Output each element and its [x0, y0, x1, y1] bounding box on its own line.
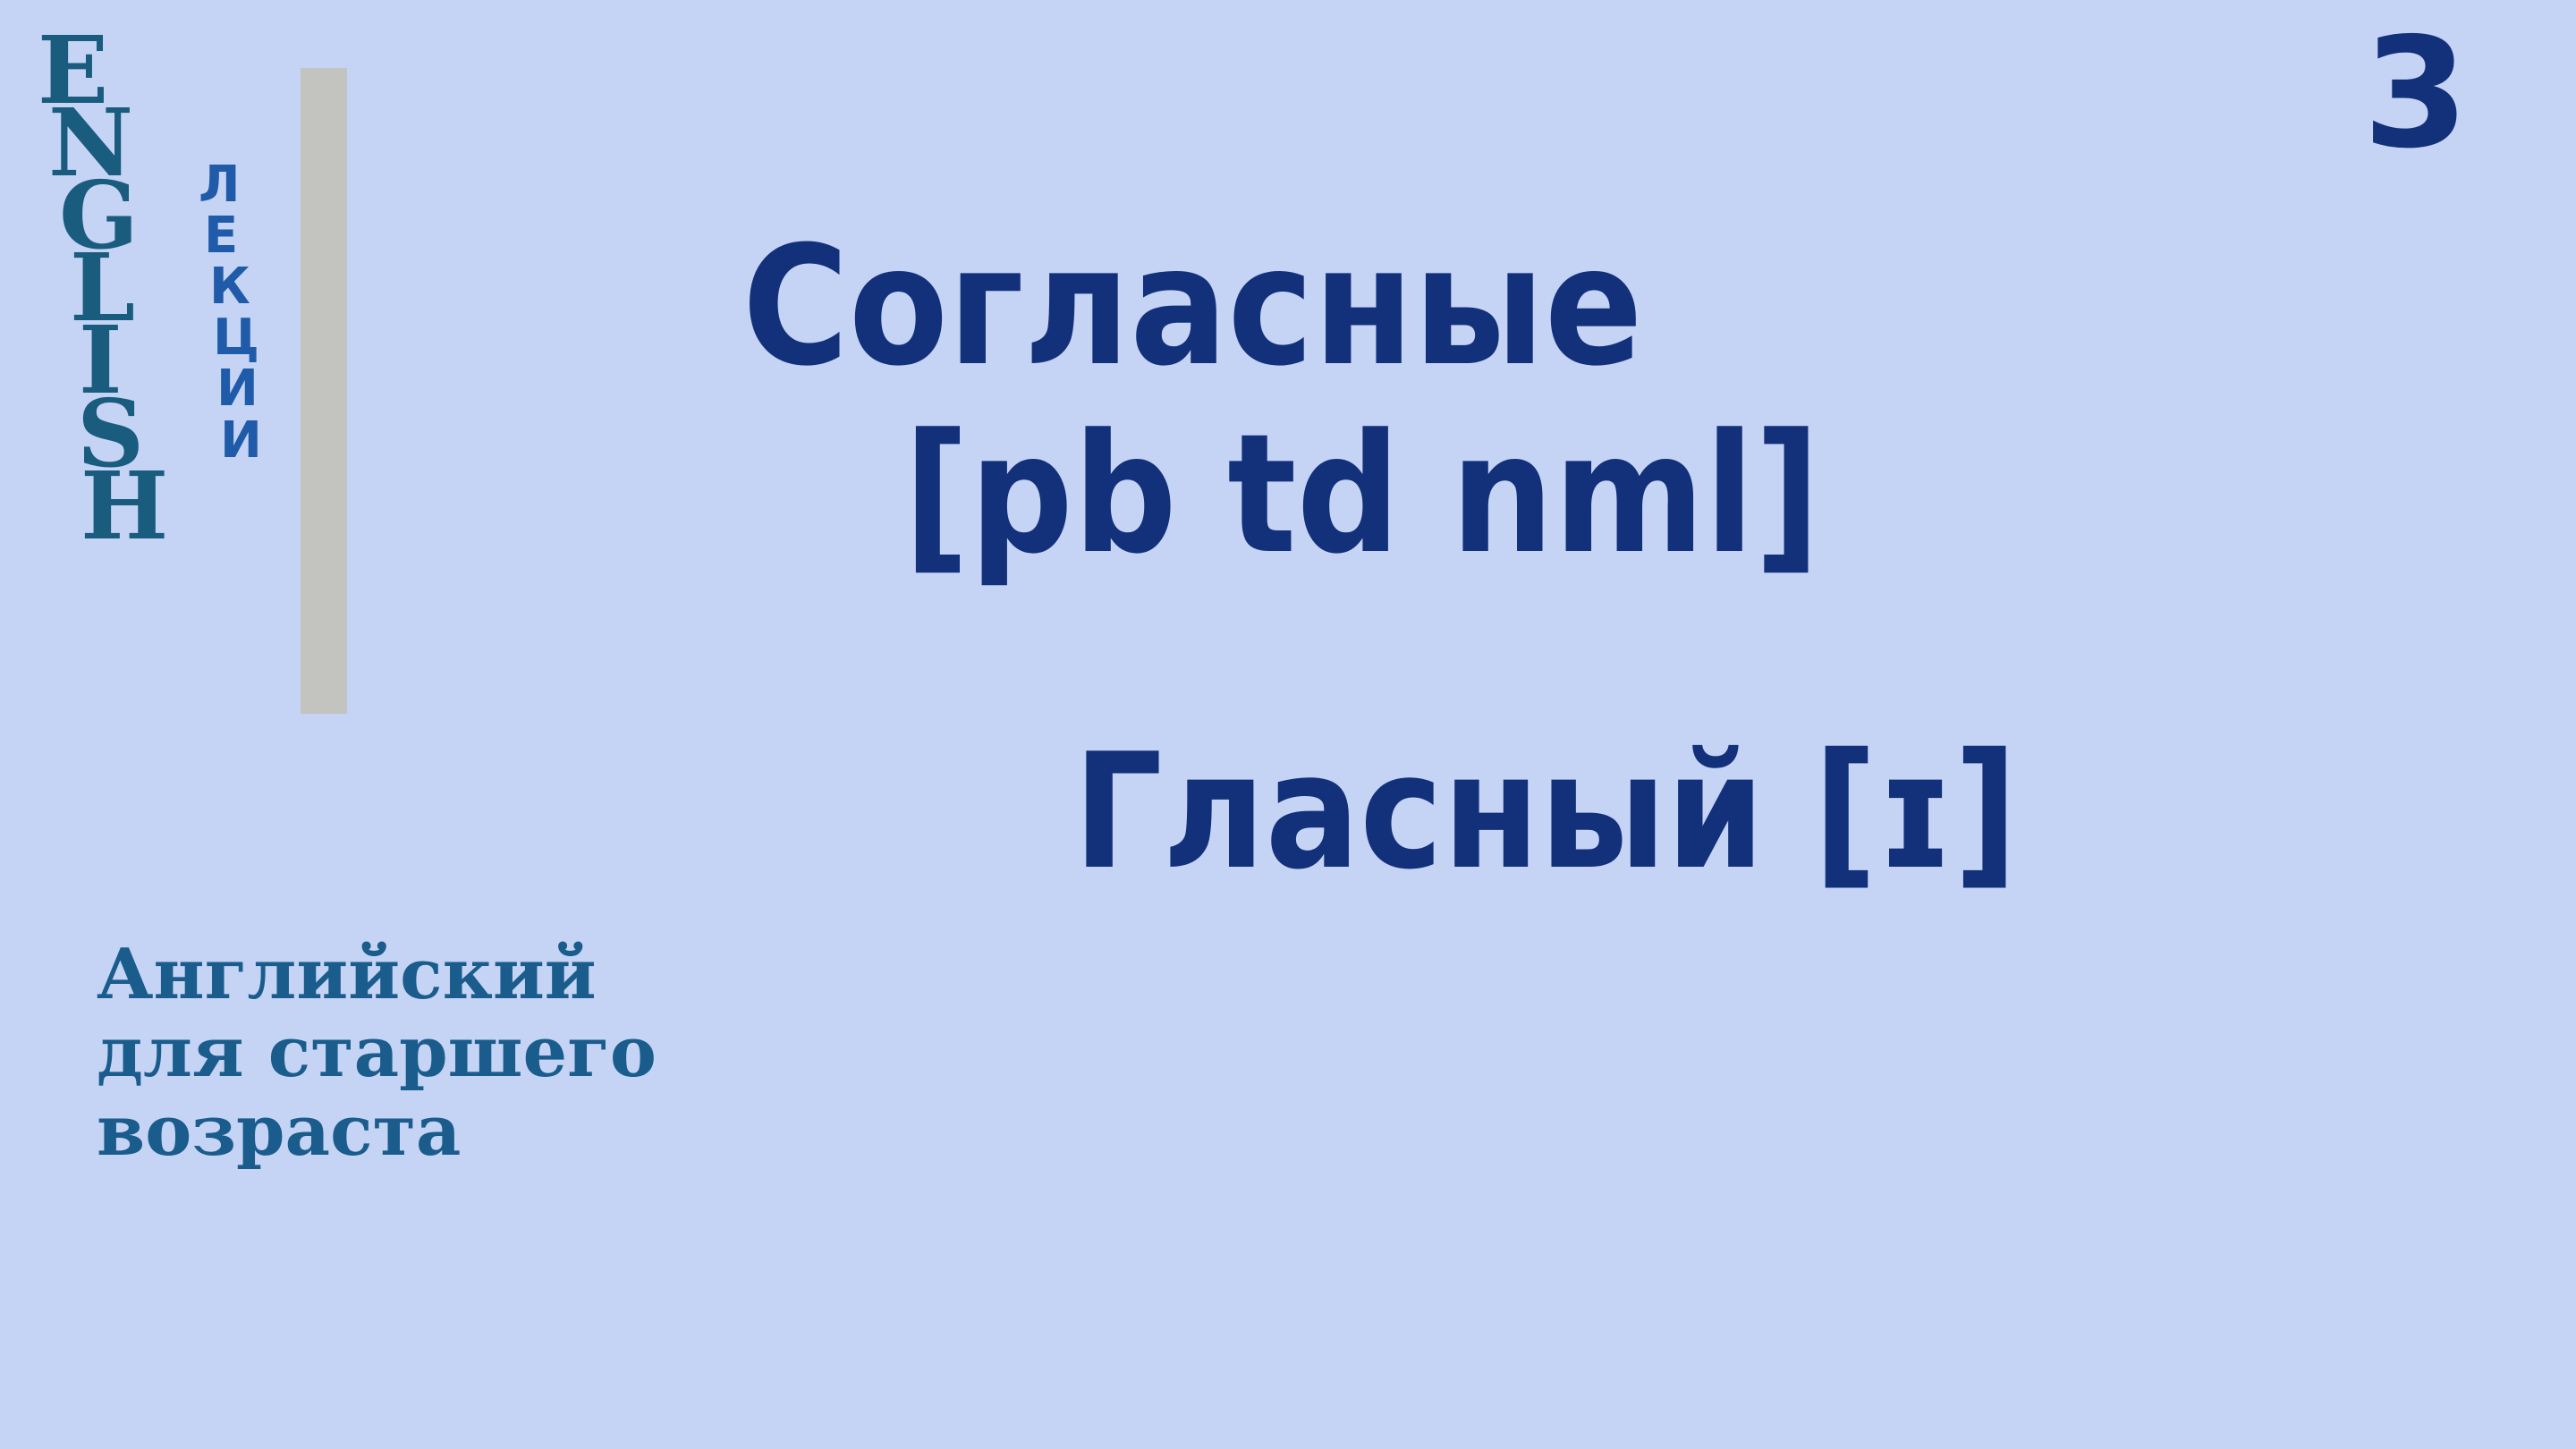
lectures-letter-ts: Ц [213, 312, 315, 363]
lectures-vertical-wordmark: Л Е К Ц И И [199, 159, 315, 466]
heading-vowel: Гласный [ɪ] [1073, 731, 2191, 894]
course-subtitle-line-1: Английский [97, 936, 776, 1013]
english-vertical-wordmark: E N G L I S H [38, 34, 199, 542]
heading-phoneme-list: [pb td nml] [903, 411, 2171, 580]
course-subtitle-line-2: для старшего [97, 1013, 776, 1091]
heading-group: Согласные [pb td nml] Гласный [ɪ] [680, 224, 2343, 894]
lectures-letter-l: Л [199, 159, 315, 210]
course-subtitle: Английский для старшего возраста [97, 936, 776, 1170]
lectures-letter-ye: Е [204, 210, 315, 261]
lectures-letter-k: К [209, 261, 315, 312]
vertical-accent-bar [301, 68, 347, 714]
brand-block: E N G L I S H Л Е К Ц И И [0, 0, 376, 769]
heading-consonants: Согласные [742, 224, 2151, 392]
course-subtitle-line-3: возраста [97, 1092, 776, 1170]
english-letter-h: H [80, 470, 199, 542]
slide-canvas: E N G L I S H Л Е К Ц И И 3 Согласные [p… [0, 0, 2576, 1449]
slide-number: 3 [2363, 18, 2469, 170]
